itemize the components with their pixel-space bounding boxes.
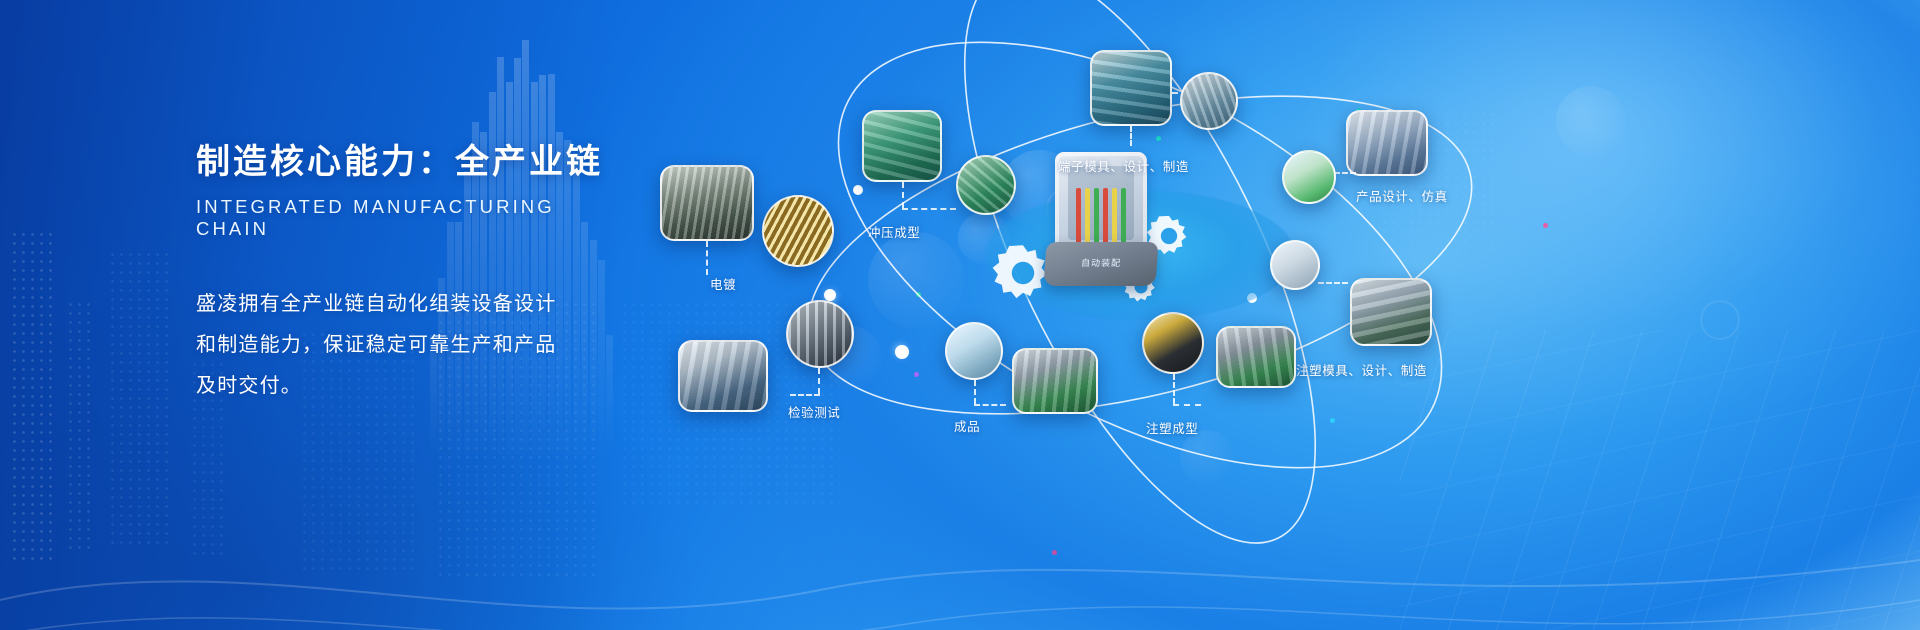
center-machine-label: 自动装配 bbox=[1045, 256, 1158, 269]
thumbnail-test-fixture bbox=[786, 300, 854, 368]
node-label: 端子模具、设计、制造 bbox=[1058, 156, 1189, 175]
connector-dash bbox=[1318, 282, 1348, 284]
thumbnail-stamping-machine bbox=[862, 110, 942, 182]
connector-dash bbox=[1130, 126, 1132, 146]
page-subtitle: INTEGRATED MANUFACTURING CHAIN bbox=[196, 196, 616, 240]
machine-base: 自动装配 bbox=[1043, 242, 1158, 286]
thumbnail-inspection-lab bbox=[678, 340, 768, 412]
thumbnail-finished-product bbox=[945, 322, 1003, 380]
thumbnail-terminal-mold-detail bbox=[1180, 72, 1238, 130]
manufacturing-chain-diagram: 自动装配 电镀 冲压成型 端子模具、设计、制造 bbox=[640, 0, 1920, 630]
connector-dash bbox=[902, 208, 956, 210]
thumbnail-terminal-mold-workshop bbox=[1090, 50, 1172, 126]
connector-dash bbox=[790, 394, 820, 396]
connector-dash bbox=[974, 380, 976, 404]
banner-stage: 制造核心能力：全产业链 INTEGRATED MANUFACTURING CHA… bbox=[0, 0, 1920, 630]
thumbnail-injection-line bbox=[1216, 326, 1296, 388]
thumbnail-injection-machine bbox=[1142, 312, 1204, 374]
page-body-text: 盛凌拥有全产业链自动化组装设备设计和制造能力，保证稳定可靠生产和产品及时交付。 bbox=[196, 284, 566, 407]
connector-dash bbox=[1173, 404, 1201, 406]
thumbnail-assembly-line bbox=[1012, 348, 1098, 414]
connector-dash bbox=[706, 241, 708, 275]
connector-dash bbox=[974, 404, 1006, 406]
thumbnail-3d-model bbox=[1282, 150, 1336, 204]
connector-dash bbox=[902, 182, 904, 208]
node-label: 产品设计、仿真 bbox=[1356, 186, 1448, 205]
thumbnail-plating-drum bbox=[762, 195, 834, 267]
connector-dash bbox=[1173, 374, 1175, 404]
node-label: 注塑成型 bbox=[1146, 418, 1198, 437]
node-label: 冲压成型 bbox=[868, 222, 920, 241]
node-label: 检验测试 bbox=[788, 402, 840, 421]
connector-node-dot bbox=[896, 346, 905, 355]
machine-inner bbox=[1068, 166, 1134, 240]
connector-dash bbox=[818, 368, 820, 394]
thumbnail-injection-mold bbox=[1350, 278, 1432, 346]
node-label: 成品 bbox=[954, 416, 980, 435]
thumbnail-stamping-detail bbox=[956, 155, 1016, 215]
page-title: 制造核心能力：全产业链 bbox=[196, 140, 616, 184]
connector-node-dot bbox=[826, 292, 835, 301]
node-label: 电镀 bbox=[710, 274, 736, 293]
node-label: 注塑模具、设计、制造 bbox=[1296, 360, 1427, 379]
thumbnail-plating-line bbox=[660, 165, 754, 241]
thumbnail-cad-designer bbox=[1346, 110, 1428, 176]
banner-copy: 制造核心能力：全产业链 INTEGRATED MANUFACTURING CHA… bbox=[196, 140, 616, 407]
thumbnail-mold-part bbox=[1270, 240, 1320, 290]
